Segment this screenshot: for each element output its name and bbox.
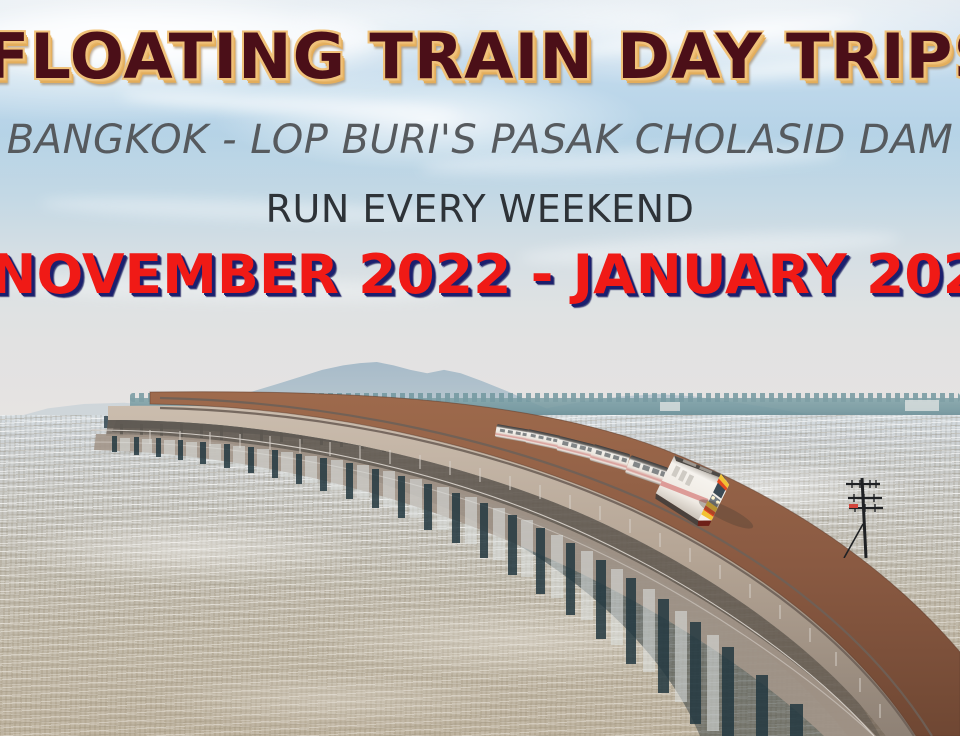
poster-text-overlay: FLOATING TRAIN DAY TRIPS BANGKOK - LOP B…: [0, 0, 960, 330]
poster-date-range: NOVEMBER 2022 - JANUARY 2023: [0, 246, 960, 304]
poster-frequency: RUN EVERY WEEKEND: [0, 188, 960, 230]
promotional-poster: FLOATING TRAIN DAY TRIPS BANGKOK - LOP B…: [0, 0, 960, 736]
poster-route-subtitle: BANGKOK - LOP BURI'S PASAK CHOLASID DAM: [0, 118, 960, 162]
poster-headline: FLOATING TRAIN DAY TRIPS: [0, 26, 960, 88]
telegraph-pole: [836, 472, 896, 558]
diesel-locomotive: [651, 452, 732, 530]
